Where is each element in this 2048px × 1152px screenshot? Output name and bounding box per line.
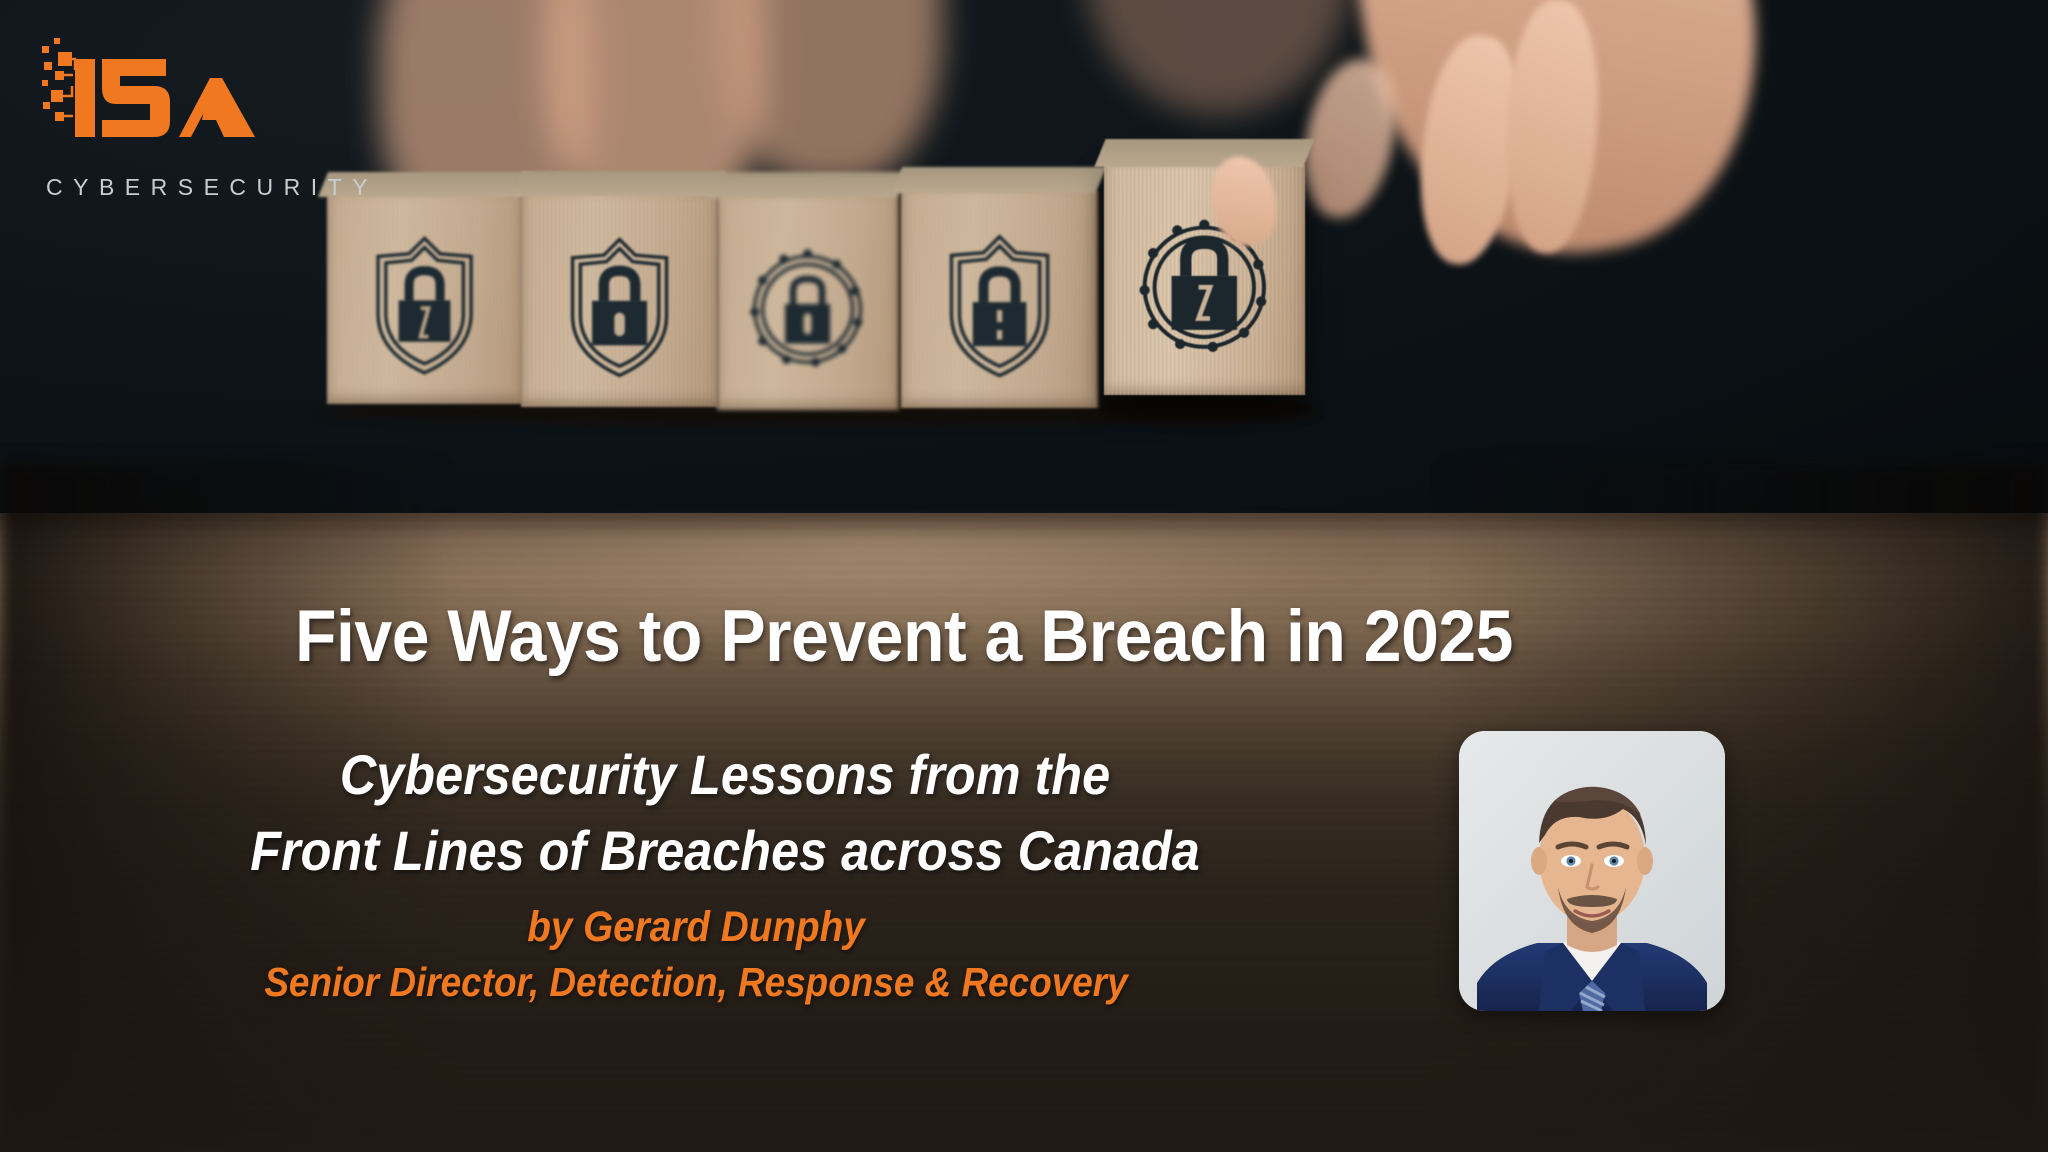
wooden-block-4 xyxy=(901,191,1098,408)
shield-padlock-icon xyxy=(537,229,702,386)
subtitle-line-2: Front Lines of Breaches across Canada xyxy=(73,823,1378,879)
circle-padlock-icon xyxy=(731,230,884,389)
page-title: Five Ways to Prevent a Breach in 2025 xyxy=(63,600,1744,673)
subtitle-line-1: Cybersecurity Lessons from the xyxy=(73,747,1378,803)
isa-logo[interactable]: CYBERSECURITY xyxy=(42,38,342,201)
block-top-face xyxy=(708,172,908,198)
block-top-face xyxy=(892,167,1107,193)
wooden-block-3 xyxy=(717,196,899,410)
presentation-title-slide: CYBERSECURITY Five Ways to Prevent a Bre… xyxy=(0,0,2048,1152)
logo-tagline: CYBERSECURITY xyxy=(46,174,342,201)
avatar xyxy=(1459,731,1725,1011)
speaker-byline: by Gerard Dunphy xyxy=(70,906,1323,949)
block-seam xyxy=(1097,191,1100,408)
shield-padlock-icon xyxy=(917,226,1082,386)
block-top-face xyxy=(1094,139,1314,167)
bottom-fade-overlay xyxy=(0,622,2048,1152)
block-top-face xyxy=(512,171,727,196)
speaker-headshot xyxy=(1459,731,1725,1011)
isa-logo-mark xyxy=(42,38,292,168)
wooden-block-2 xyxy=(521,195,718,407)
speaker-role: Senior Director, Detection, Response & R… xyxy=(70,962,1323,1003)
shield-padlock-icon xyxy=(342,228,507,383)
wooden-block-1 xyxy=(327,195,524,405)
